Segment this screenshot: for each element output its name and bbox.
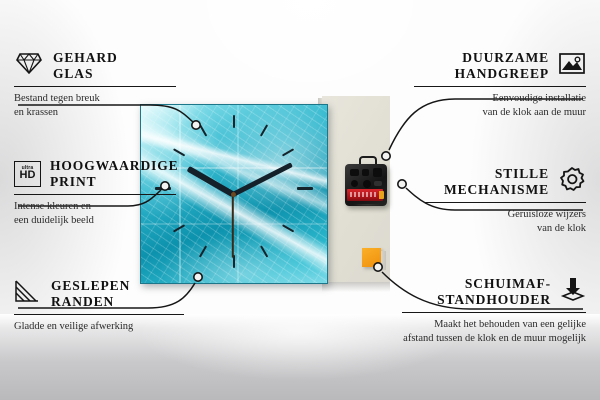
- gear-icon: [558, 166, 586, 197]
- feature-schuimafstandhouder: SCHUIMAF- STANDHOUDER Maakt het behouden…: [396, 276, 586, 345]
- feature-divider: [14, 314, 184, 315]
- feature-title: SCHUIMAF- STANDHOUDER: [437, 276, 551, 308]
- ultra-hd-icon-main-text: HD: [20, 170, 36, 181]
- feature-title: DUURZAME HANDGREEP: [455, 50, 549, 82]
- diagonal-lines-icon: [14, 279, 42, 308]
- feature-title: GESLEPEN RANDEN: [51, 278, 130, 310]
- feature-description: Maakt het behouden van een gelijke afsta…: [396, 318, 586, 345]
- feature-divider: [402, 312, 586, 313]
- feature-title: GEHARD GLAS: [53, 50, 118, 82]
- feature-title: STILLE MECHANISME: [444, 166, 549, 198]
- feature-description: Intense kleuren en een duidelijk beeld: [14, 200, 182, 227]
- picture-frame-icon: [558, 51, 586, 80]
- feature-description: Geruisloze wijzers van de klok: [418, 208, 586, 235]
- feature-geslepen-randen: GESLEPEN RANDEN Gladde en veilige afwerk…: [14, 278, 190, 334]
- feature-divider: [424, 202, 586, 203]
- diamond-icon: [14, 51, 44, 80]
- arrow-down-platform-icon: [560, 276, 586, 307]
- connector-dot-geslepen-randen: [194, 273, 202, 281]
- feature-divider: [14, 86, 176, 87]
- feature-title: HOOGWAARDIGE PRINT: [50, 158, 179, 190]
- connector-dot-gehard-glas: [192, 121, 200, 129]
- connector-dot-schuimafstandhouder: [374, 263, 382, 271]
- feature-description: Bestand tegen breuk en krassen: [14, 92, 182, 119]
- feature-hoogwaardige-print: ultra HD HOOGWAARDIGE PRINT Intense kleu…: [14, 158, 182, 227]
- feature-stille-mechanisme: STILLE MECHANISME Geruisloze wijzers van…: [418, 166, 586, 235]
- feature-duurzame-handgreep: DUURZAME HANDGREEP Eenvoudige installati…: [408, 50, 586, 119]
- feature-divider: [414, 86, 586, 87]
- connector-dot-duurzame-handgreep: [382, 152, 390, 160]
- feature-divider: [14, 194, 176, 195]
- connector-dot-stille-mechanisme: [398, 180, 406, 188]
- feature-description: Gladde en veilige afwerking: [14, 320, 190, 333]
- feature-gehard-glas: GEHARD GLAS Bestand tegen breuk en krass…: [14, 50, 182, 119]
- infographic-stage: GEHARD GLAS Bestand tegen breuk en krass…: [0, 0, 600, 400]
- feature-description: Eenvoudige installatie van de klok aan d…: [408, 92, 586, 119]
- ultra-hd-icon: ultra HD: [14, 161, 41, 187]
